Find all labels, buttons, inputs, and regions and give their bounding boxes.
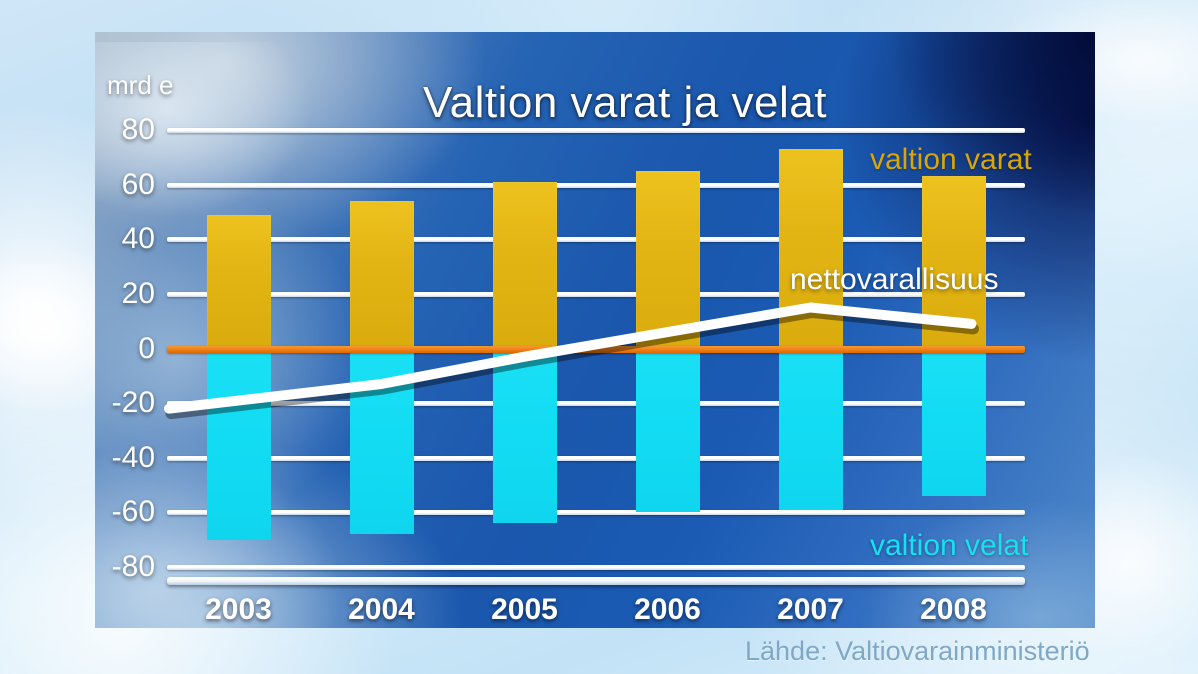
- legend-label-nettovarallisuus: nettovarallisuus: [790, 263, 998, 297]
- y-axis-tick-label: 0: [95, 332, 155, 366]
- y-axis-tick-label: 60: [95, 168, 155, 202]
- gridline: [167, 128, 1025, 133]
- screenshot-stage: Valtion varat ja velat mrd e 806040200-2…: [0, 0, 1198, 674]
- source-caption: Lähde: Valtiovarainministeriö: [745, 636, 1090, 667]
- x-axis-line: [167, 577, 1025, 585]
- x-axis-tick-label: 2007: [751, 593, 871, 627]
- bar-assets: [636, 171, 700, 349]
- y-axis-tick-label: -80: [95, 550, 155, 584]
- x-axis-tick-label: 2005: [465, 593, 585, 627]
- bar-debts: [207, 349, 271, 540]
- gridline: [167, 401, 1025, 406]
- gridline: [167, 565, 1025, 570]
- x-axis-tick-label: 2006: [608, 593, 728, 627]
- bar-debts: [922, 349, 986, 496]
- gridline: [167, 237, 1025, 242]
- gridline: [167, 456, 1025, 461]
- zero-axis-line: [167, 346, 1025, 353]
- plot-area: 806040200-20-40-60-802003200420052006200…: [95, 32, 1095, 628]
- bar-debts: [493, 349, 557, 524]
- bar-debts: [779, 349, 843, 510]
- bar-debts: [636, 349, 700, 513]
- gridline: [167, 510, 1025, 515]
- x-axis-tick-label: 2003: [179, 593, 299, 627]
- x-axis-tick-label: 2004: [322, 593, 442, 627]
- y-axis-tick-label: -40: [95, 441, 155, 475]
- chart-panel: Valtion varat ja velat mrd e 806040200-2…: [95, 32, 1095, 628]
- legend-label-debts: valtion velat: [870, 529, 1028, 563]
- y-axis-tick-label: 20: [95, 277, 155, 311]
- y-axis-tick-label: 80: [95, 113, 155, 147]
- y-axis-tick-label: 40: [95, 222, 155, 256]
- x-axis-tick-label: 2008: [894, 593, 1014, 627]
- y-axis-tick-label: -60: [95, 495, 155, 529]
- bar-assets: [779, 149, 843, 348]
- gridline: [167, 183, 1025, 188]
- bar-assets: [493, 182, 557, 349]
- bar-debts: [350, 349, 414, 535]
- legend-label-assets: valtion varat: [870, 143, 1032, 177]
- bar-assets: [207, 215, 271, 349]
- y-axis-tick-label: -20: [95, 386, 155, 420]
- bar-assets: [350, 201, 414, 348]
